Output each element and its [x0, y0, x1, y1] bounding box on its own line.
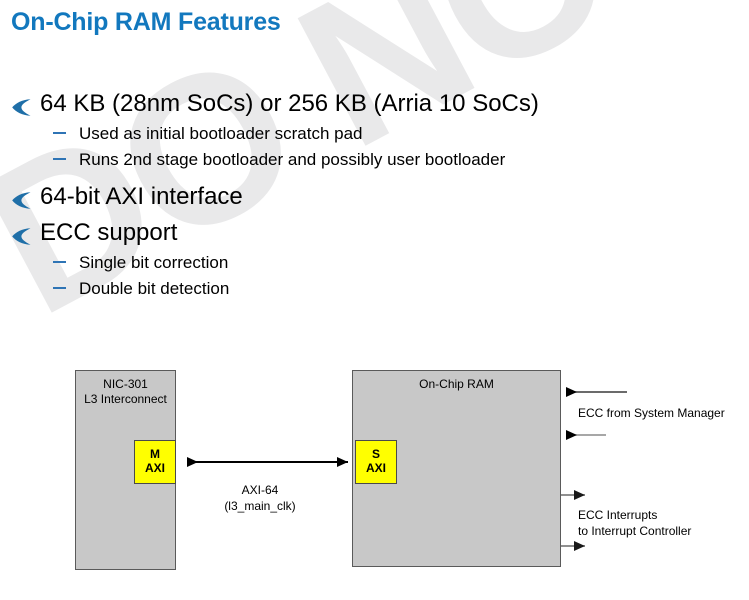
sub-bullet-item: Runs 2nd stage bootloader and possibly u…	[0, 151, 749, 168]
page-title: On-Chip RAM Features	[11, 8, 281, 37]
crescent-bullet-icon	[11, 191, 32, 210]
bullet-label: ECC support	[40, 219, 177, 246]
bullet-label: 64-bit AXI interface	[40, 183, 243, 210]
dash-bullet-icon	[53, 132, 66, 134]
sub-bullet-label: Double bit detection	[79, 279, 229, 298]
connector-axi64-label: AXI-64 (l3_main_clk)	[185, 482, 335, 514]
bullet-label: 64 KB (28nm SoCs) or 256 KB (Arria 10 So…	[40, 90, 539, 117]
bullet-item: 64-bit AXI interface	[0, 185, 749, 209]
sub-bullet-item: Double bit detection	[0, 280, 749, 297]
crescent-bullet-icon	[11, 98, 32, 117]
sub-bullet-label: Used as initial bootloader scratch pad	[79, 124, 363, 143]
dash-bullet-icon	[53, 287, 66, 289]
dash-bullet-icon	[53, 261, 66, 263]
annotation-ecc-interrupts: ECC Interrupts to Interrupt Controller	[578, 507, 691, 539]
dash-bullet-icon	[53, 158, 66, 160]
sub-bullet-item: Used as initial bootloader scratch pad	[0, 125, 749, 142]
bullet-list: 64 KB (28nm SoCs) or 256 KB (Arria 10 So…	[0, 92, 749, 297]
sub-bullet-label: Runs 2nd stage bootloader and possibly u…	[79, 150, 505, 169]
bullet-item: 64 KB (28nm SoCs) or 256 KB (Arria 10 So…	[0, 92, 749, 116]
sub-bullet-label: Single bit correction	[79, 253, 228, 272]
annotation-ecc-from-system-manager: ECC from System Manager	[578, 405, 725, 421]
sub-bullet-item: Single bit correction	[0, 254, 749, 271]
bullet-item: ECC support	[0, 221, 749, 245]
crescent-bullet-icon	[11, 227, 32, 246]
